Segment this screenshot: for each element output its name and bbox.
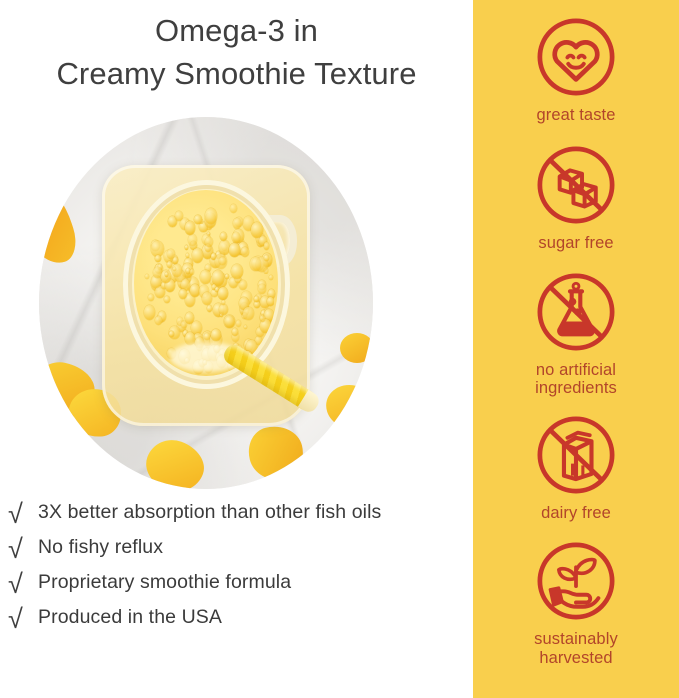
- badge-dairy-free: dairy free: [473, 412, 679, 523]
- badge-label: sugar free: [538, 234, 613, 253]
- heart-smiley-icon: [533, 14, 619, 100]
- badge-sugar-free: sugar free: [473, 142, 679, 253]
- list-item-label: Proprietary smoothie formula: [38, 570, 291, 596]
- product-photo: [39, 117, 373, 489]
- list-item-label: 3X better absorption than other fish oil…: [38, 500, 381, 526]
- benefits-list: √ 3X better absorption than other fish o…: [8, 500, 468, 640]
- badge-label: no artificial ingredients: [535, 361, 617, 399]
- list-item: √ 3X better absorption than other fish o…: [8, 500, 468, 528]
- list-item: √ Proprietary smoothie formula: [8, 570, 468, 598]
- check-icon: √: [8, 570, 38, 598]
- list-item: √ No fishy reflux: [8, 535, 468, 563]
- badge-great-taste: great taste: [473, 14, 679, 125]
- hand-plant-icon: [533, 538, 619, 624]
- title-line-1: Omega-3 in: [155, 13, 318, 48]
- check-icon: √: [8, 605, 38, 633]
- badge-no-artificial-ingredients: no artificial ingredients: [473, 269, 679, 399]
- badge-label: great taste: [536, 106, 615, 125]
- milk-carton-icon: [533, 412, 619, 498]
- badge-label: sustainably harvested: [534, 630, 618, 668]
- check-icon: √: [8, 500, 38, 528]
- badges-panel: great taste sugar free: [473, 0, 679, 698]
- list-item-label: No fishy reflux: [38, 535, 163, 561]
- smoothie-surface: [134, 190, 278, 376]
- flask-icon: [533, 269, 619, 355]
- mango-chunk: [340, 333, 373, 363]
- list-item-label: Produced in the USA: [38, 605, 222, 631]
- check-icon: √: [8, 535, 38, 563]
- badge-sustainably-harvested: sustainably harvested: [473, 538, 679, 668]
- smoothie-jar-image: [39, 117, 373, 489]
- page-title: Omega-3 in Creamy Smoothie Texture: [0, 10, 473, 96]
- list-item: √ Produced in the USA: [8, 605, 468, 633]
- title-line-2: Creamy Smoothie Texture: [0, 53, 473, 96]
- left-column: Omega-3 in Creamy Smoothie Texture: [0, 0, 473, 698]
- badge-label: dairy free: [541, 504, 611, 523]
- infographic-page: Omega-3 in Creamy Smoothie Texture: [0, 0, 679, 698]
- sugar-cubes-icon: [533, 142, 619, 228]
